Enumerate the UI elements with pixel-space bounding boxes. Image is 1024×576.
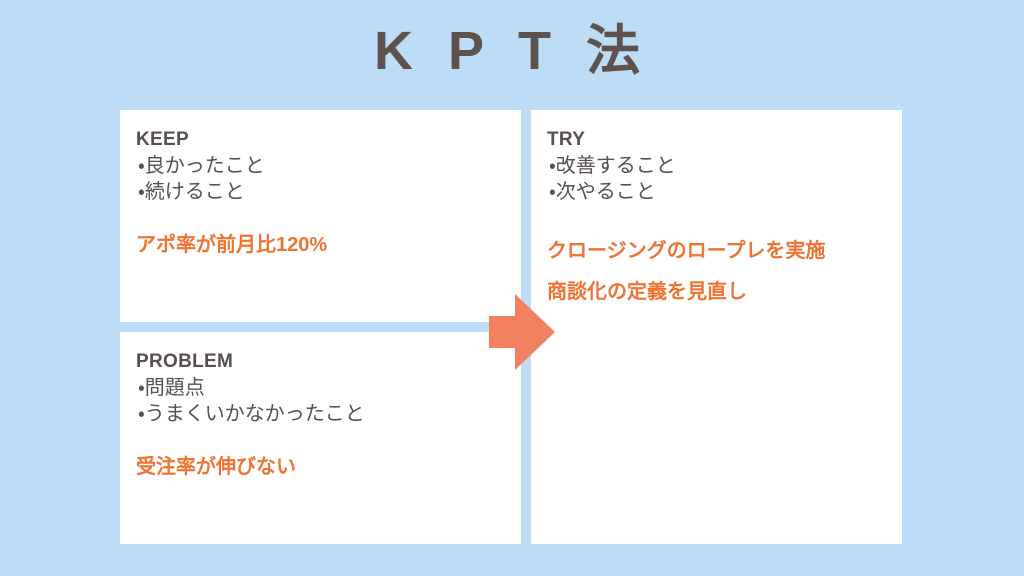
highlight-text: アポ率が前月比120% <box>136 234 505 257</box>
panel-try-heading: TRY <box>547 128 886 152</box>
panel-problem-highlights: 受注率が伸びない <box>136 456 505 479</box>
panel-try: TRY ・改善すること ・次やること クロージングのロープレを実施 商談化の定義… <box>531 110 902 544</box>
highlight-text: クロージングのロープレを実施 <box>547 240 886 263</box>
panel-keep-highlights: アポ率が前月比120% <box>136 234 505 257</box>
arrow-right-icon <box>489 294 555 370</box>
list-item: ・うまくいかなかったこと <box>136 401 505 427</box>
panel-try-bullets: ・改善すること ・次やること <box>547 153 886 206</box>
highlight-text: 商談化の定義を見直し <box>547 281 886 304</box>
panel-keep: KEEP ・良かったこと ・続けること アポ率が前月比120% <box>120 110 521 322</box>
kpt-slide: K P T 法 KEEP ・良かったこと ・続けること アポ率が前月比120% … <box>0 0 1024 576</box>
list-item: ・改善すること <box>547 153 886 179</box>
panel-keep-bullets: ・良かったこと ・続けること <box>136 153 505 206</box>
panel-problem-heading: PROBLEM <box>136 350 505 374</box>
list-item: ・良かったこと <box>136 153 505 179</box>
list-item: ・問題点 <box>136 375 505 401</box>
panel-problem-bullets: ・問題点 ・うまくいかなかったこと <box>136 375 505 428</box>
list-item: ・次やること <box>547 179 886 205</box>
panel-problem: PROBLEM ・問題点 ・うまくいかなかったこと 受注率が伸びない <box>120 332 521 544</box>
panel-try-highlights: クロージングのロープレを実施 商談化の定義を見直し <box>547 240 886 304</box>
highlight-text: 受注率が伸びない <box>136 456 505 479</box>
panel-keep-heading: KEEP <box>136 128 505 152</box>
list-item: ・続けること <box>136 179 505 205</box>
page-title: K P T 法 <box>0 22 1024 81</box>
